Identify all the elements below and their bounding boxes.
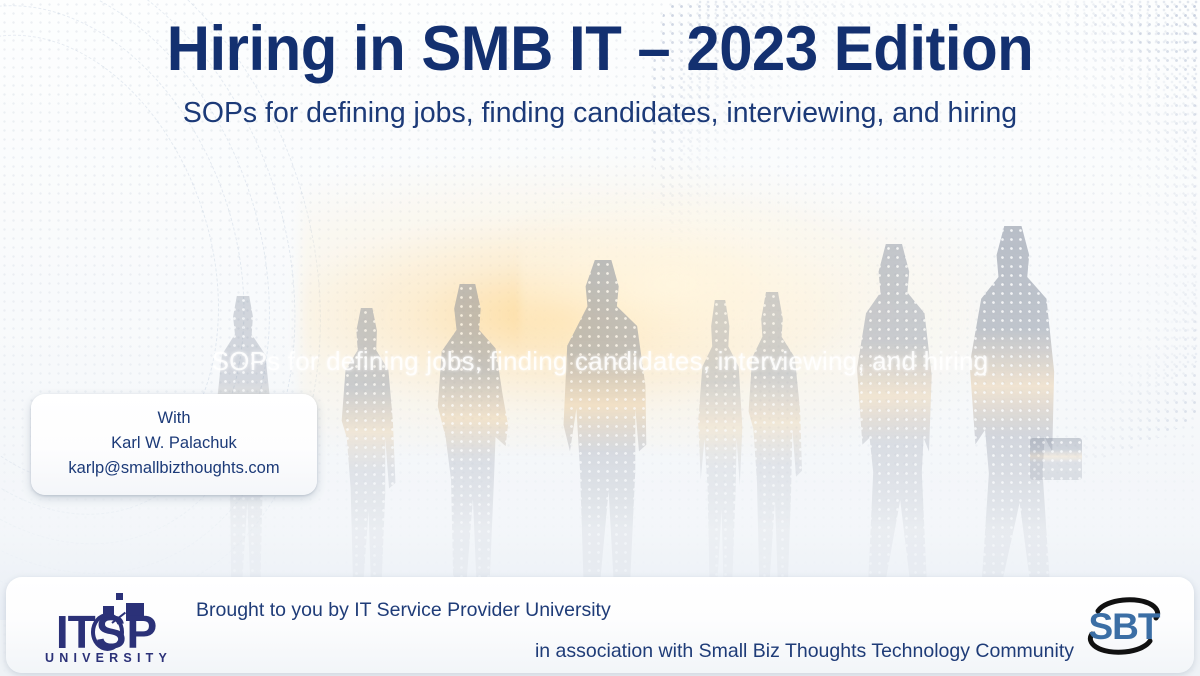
footer-credits: Brought to you by IT Service Provider Un… xyxy=(196,601,1076,661)
headline-block: Hiring in SMB IT – 2023 Edition SOPs for… xyxy=(0,16,1200,131)
sbt-logo-icon: SBT xyxy=(1076,595,1172,657)
footer-bar: ITSP UNIVERSITY Brought to you by IT Ser… xyxy=(6,577,1194,673)
footer-line-2: in association with Small Biz Thoughts T… xyxy=(196,642,1076,662)
page-subtitle: SOPs for defining jobs, finding candidat… xyxy=(12,96,1188,131)
sbt-wordmark: SBT xyxy=(1076,608,1172,645)
page-title: Hiring in SMB IT – 2023 Edition xyxy=(30,16,1170,82)
itsp-university-logo-icon: ITSP UNIVERSITY xyxy=(30,593,182,665)
itsp-wordmark: ITSP xyxy=(30,609,182,655)
footer-line-1: Brought to you by IT Service Provider Un… xyxy=(196,601,1076,621)
itsp-tagline: UNIVERSITY xyxy=(30,651,182,665)
presenter-email[interactable]: karlp@smallbizthoughts.com xyxy=(45,456,303,481)
presenter-name: Karl W. Palachuk xyxy=(45,431,303,456)
presenter-with-label: With xyxy=(45,406,303,431)
presentation-slide: SOPs for defining jobs, finding candidat… xyxy=(0,0,1200,676)
presenter-card: With Karl W. Palachuk karlp@smallbizthou… xyxy=(31,394,317,495)
